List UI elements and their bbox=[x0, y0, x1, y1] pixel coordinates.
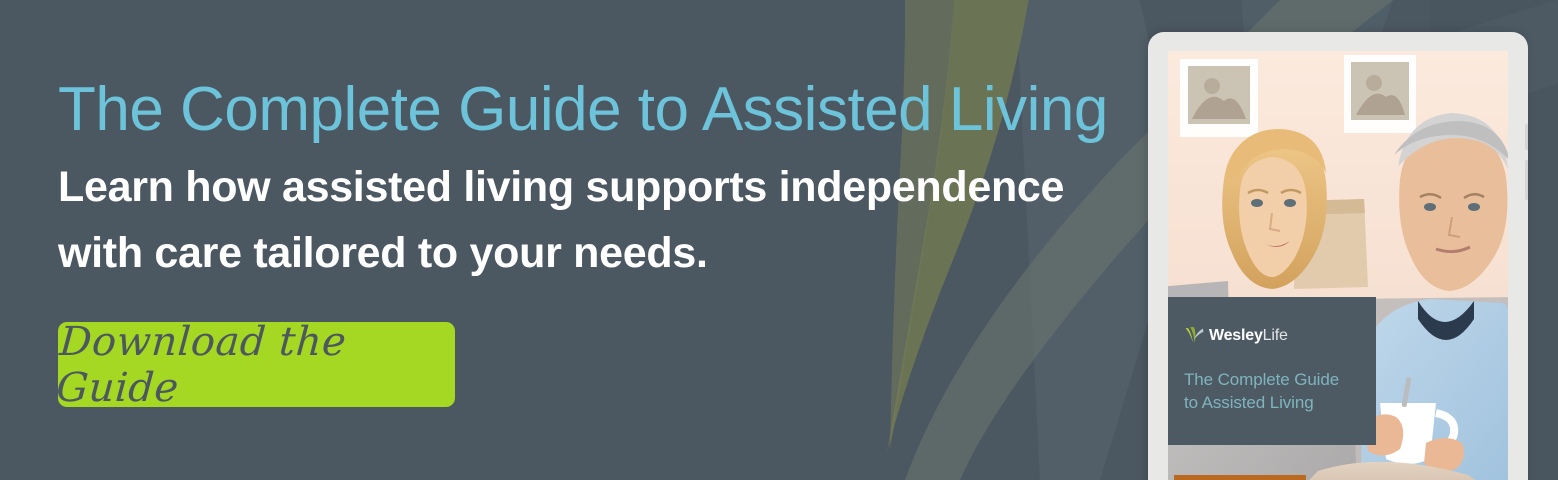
subheadline-line-1: Learn how assisted living supports indep… bbox=[58, 155, 1068, 220]
download-the-guide-button[interactable]: Download the Guide bbox=[58, 322, 455, 407]
wesleylife-leaf-mark-icon bbox=[1184, 325, 1205, 346]
ebook-cover-overlay: WesleyLife The Complete Guide to Assiste… bbox=[1168, 297, 1376, 445]
brand-name-light: Life bbox=[1263, 327, 1288, 344]
page-title: The Complete Guide to Assisted Living bbox=[58, 78, 1128, 141]
ebook-cover-title: The Complete Guide to Assisted Living bbox=[1184, 369, 1364, 415]
tablet-volume-down-button bbox=[1525, 160, 1528, 200]
ebook-cover-title-line-1: The Complete Guide bbox=[1184, 369, 1364, 392]
wesleylife-logo: WesleyLife bbox=[1184, 325, 1288, 346]
assisted-living-cta-banner: The Complete Guide to Assisted Living Le… bbox=[0, 0, 1558, 480]
subheadline: Learn how assisted living supports indep… bbox=[58, 155, 1068, 286]
brand-name-bold: Wesley bbox=[1209, 327, 1263, 344]
subheadline-line-2: with care tailored to your needs. bbox=[58, 221, 1068, 286]
wesleylife-logo-text: WesleyLife bbox=[1209, 327, 1288, 345]
copy-block: The Complete Guide to Assisted Living Le… bbox=[58, 78, 1128, 286]
download-the-guide-button-label: Download the Guide bbox=[55, 319, 458, 411]
wall-picture-frame-left bbox=[1180, 59, 1258, 137]
stacked-books bbox=[1174, 475, 1306, 480]
tablet-volume-up-button bbox=[1525, 124, 1528, 150]
cta-container: Download the Guide bbox=[58, 322, 455, 407]
ebook-cover-title-line-2: to Assisted Living bbox=[1184, 392, 1364, 415]
wall-picture-frame-right bbox=[1344, 55, 1416, 133]
